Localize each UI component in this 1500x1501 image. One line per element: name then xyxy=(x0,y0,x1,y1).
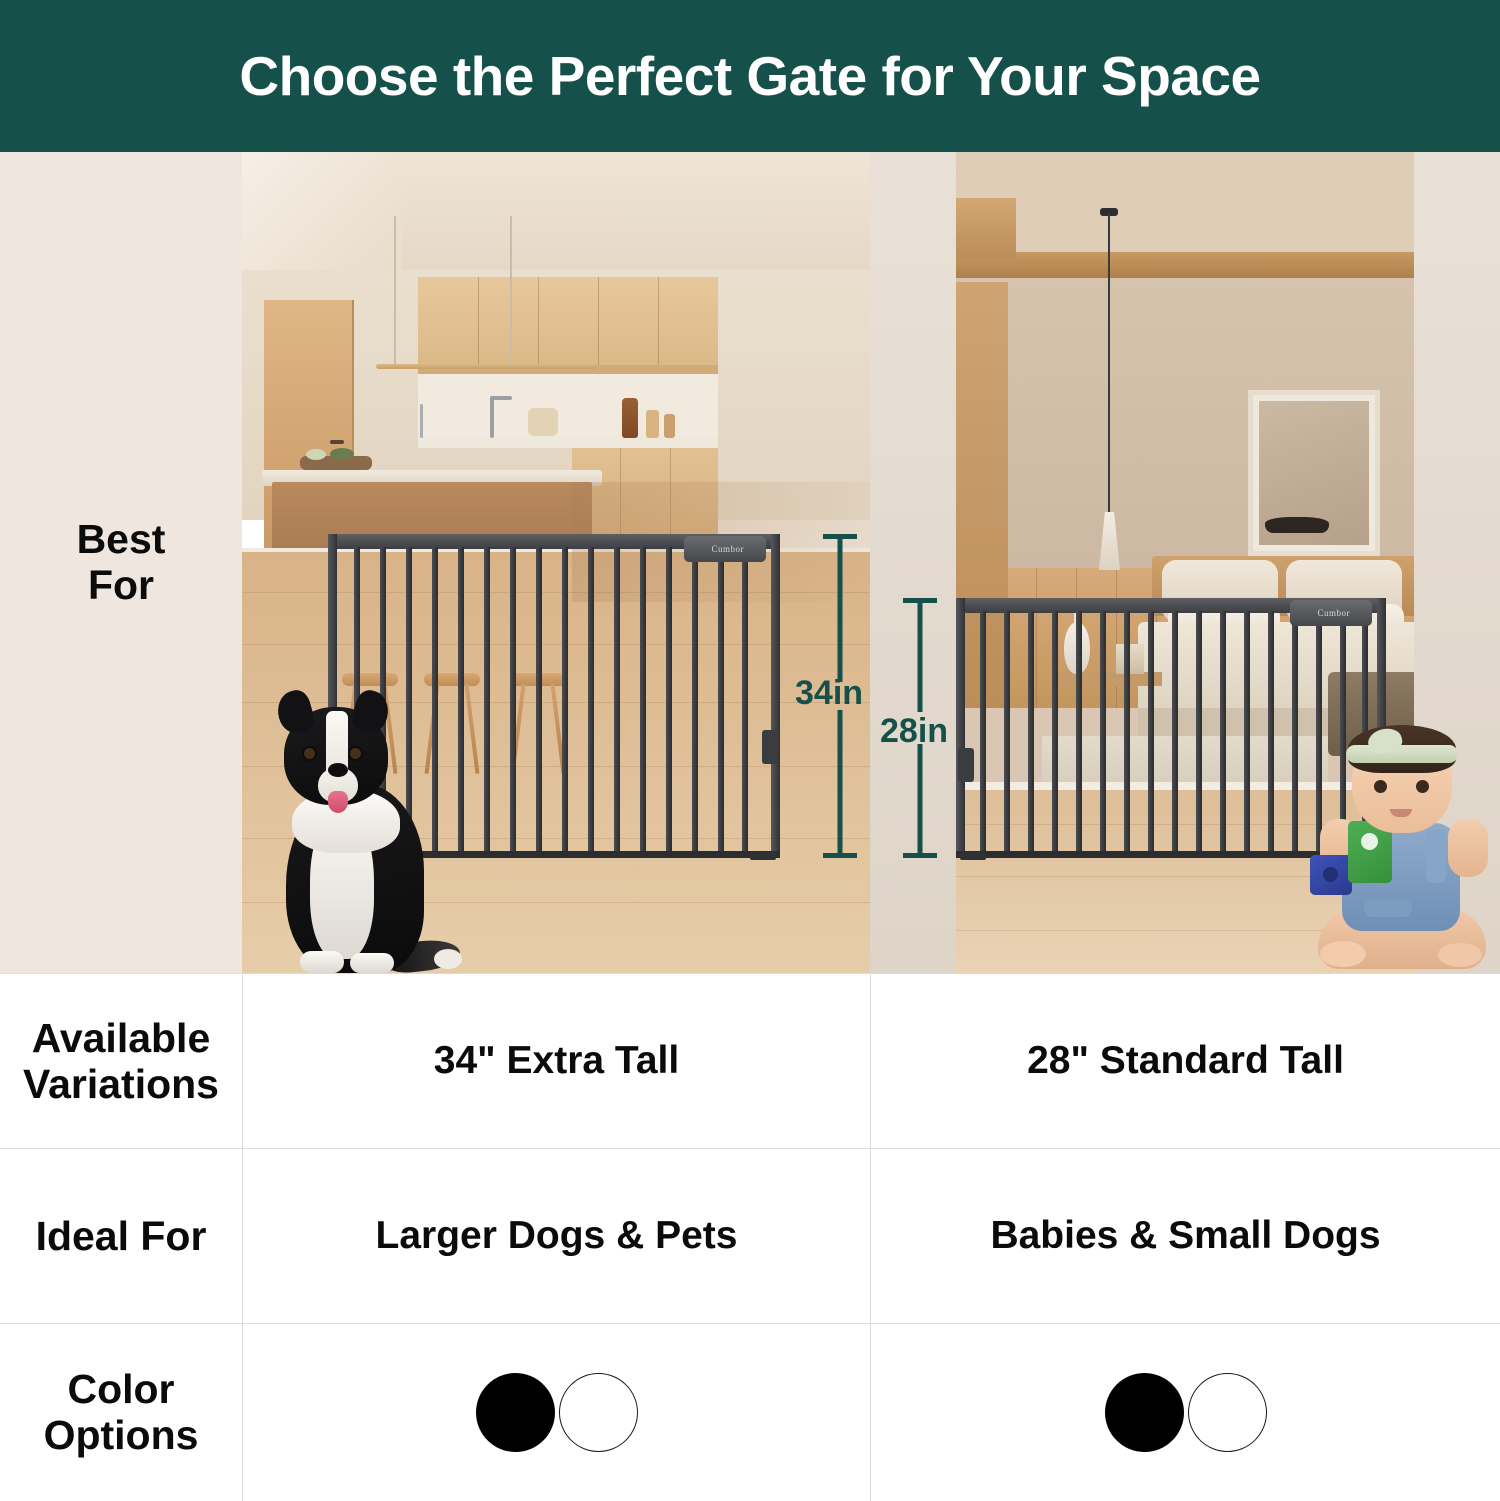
bedroom-scene: Cumbor xyxy=(870,152,1500,973)
variations-value-right: 28" Standard Tall xyxy=(870,974,1500,1149)
swatch-black[interactable] xyxy=(476,1373,555,1452)
ceiling-beam xyxy=(956,252,1414,278)
faucet-icon xyxy=(490,396,494,438)
secondary-faucet-icon xyxy=(420,404,423,438)
table-row-color-options: Color Options xyxy=(0,1323,1500,1501)
gate-foot xyxy=(960,852,986,860)
jar-1 xyxy=(646,410,659,438)
row-label-line2: Options xyxy=(44,1413,199,1459)
row-label-line1: Available xyxy=(23,1016,219,1062)
comparison-infographic: Choose the Perfect Gate for Your Space B… xyxy=(0,0,1500,1500)
upper-cabinets xyxy=(418,277,718,365)
gate-foot xyxy=(750,852,776,860)
bedroom-ceiling xyxy=(956,152,1414,252)
page-title: Choose the Perfect Gate for Your Space xyxy=(239,49,1260,104)
pendant-light-bar xyxy=(376,364,596,369)
swatch-black[interactable] xyxy=(1105,1373,1184,1452)
row-label-line1: Color xyxy=(44,1367,199,1413)
jar-2 xyxy=(664,414,675,438)
row-label-color-options: Color Options xyxy=(0,1324,242,1501)
fruit-bowl xyxy=(300,456,372,470)
variation-left: 34" Extra Tall xyxy=(434,1040,679,1083)
kitchen-soffit xyxy=(242,152,402,270)
cutting-board xyxy=(622,398,638,438)
variations-value-left: 34" Extra Tall xyxy=(242,974,870,1149)
pendant-cord xyxy=(1108,214,1110,514)
ideal-right: Babies & Small Dogs xyxy=(990,1215,1380,1258)
row-label-line2: Variations xyxy=(23,1062,219,1108)
gate-hinge xyxy=(762,730,778,764)
ideal-for-value-left: Larger Dogs & Pets xyxy=(242,1149,870,1324)
gate-right-post xyxy=(771,534,780,858)
gate-latch-handle[interactable]: Cumbor xyxy=(684,536,766,562)
table-row-best-for: Best For xyxy=(0,152,1500,973)
dimension-label-28in: 28in xyxy=(880,712,948,751)
comparison-table: Best For xyxy=(0,152,1500,1500)
seated-baby xyxy=(1312,717,1492,969)
row-label-best-for: Best For xyxy=(0,152,242,973)
row-label-line1: Ideal For xyxy=(36,1214,207,1260)
row-label-available-variations: Available Variations xyxy=(0,974,242,1149)
gate-left-post xyxy=(956,598,965,858)
swatch-white[interactable] xyxy=(559,1373,638,1452)
swatch-white[interactable] xyxy=(1188,1373,1267,1452)
kitchen-scene: Cumbor xyxy=(242,152,870,973)
gate-brand-label: Cumbor xyxy=(711,544,744,554)
color-options-left xyxy=(242,1324,870,1501)
pendant-cord-2 xyxy=(510,216,512,366)
framed-artwork xyxy=(1248,390,1380,556)
pendant-cord-1 xyxy=(394,216,396,366)
row-label-line2: For xyxy=(77,563,166,609)
header-banner: Choose the Perfect Gate for Your Space xyxy=(0,0,1500,152)
ideal-left: Larger Dogs & Pets xyxy=(376,1215,738,1258)
table-row-available-variations: Available Variations 34" Extra Tall 28" … xyxy=(0,973,1500,1149)
toy-block-blue xyxy=(1310,855,1352,895)
ideal-for-value-right: Babies & Small Dogs xyxy=(870,1149,1500,1324)
gate-hinge xyxy=(958,748,974,782)
photo-cell-standard-tall: Cumbor xyxy=(870,152,1500,973)
kettle xyxy=(528,408,558,436)
table-row-ideal-for: Ideal For Larger Dogs & Pets Babies & Sm… xyxy=(0,1148,1500,1324)
dimension-label-34in: 34in xyxy=(795,674,863,713)
corner-beam xyxy=(956,198,1016,258)
border-collie-dog xyxy=(258,683,448,973)
gate-latch-handle[interactable]: Cumbor xyxy=(1290,600,1372,626)
photo-cell-extra-tall: Cumbor xyxy=(242,152,870,973)
row-label-line1: Best xyxy=(77,517,166,563)
color-options-right xyxy=(870,1324,1500,1501)
headband xyxy=(1346,745,1458,763)
variation-right: 28" Standard Tall xyxy=(1027,1040,1344,1083)
row-label-ideal-for: Ideal For xyxy=(0,1149,242,1324)
gate-brand-label: Cumbor xyxy=(1317,608,1350,618)
